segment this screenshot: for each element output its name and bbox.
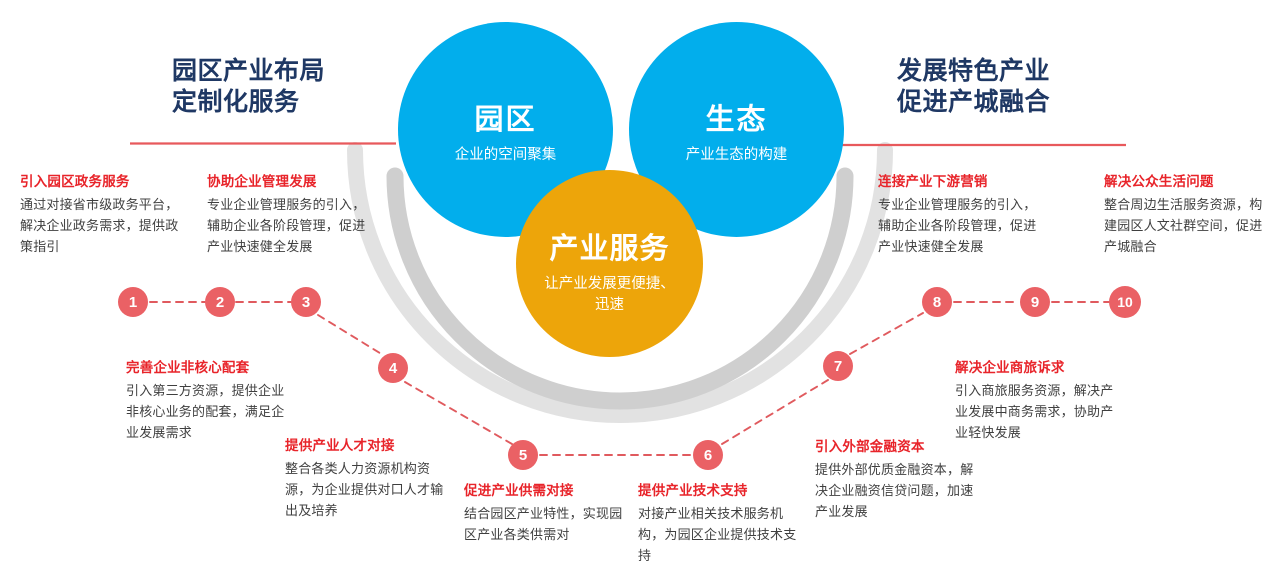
item-3-title: 完善企业非核心配套 (126, 358, 291, 377)
item-7-title: 引入外部金融资本 (815, 437, 977, 456)
item-block-3: 完善企业非核心配套 引入第三方资源，提供企业非核心业务的配套，满足企业发展需求 (126, 358, 291, 443)
item-2-body: 专业企业管理服务的引入，辅助企业各阶段管理，促进产业快速健全发展 (207, 194, 367, 257)
section-title-right: 发展特色产业 促进产城融合 (897, 56, 1050, 118)
item-block-6: 提供产业技术支持 对接产业相关技术服务机构，为园区企业提供技术支持 (638, 481, 800, 566)
item-9-title: 连接产业下游营销 (878, 172, 1038, 191)
item-2-title: 协助企业管理发展 (207, 172, 367, 191)
item-8-body: 引入商旅服务资源，解决产业发展中商务需求，协助产业轻快发展 (955, 380, 1115, 443)
circle-park-title: 园区 (474, 96, 536, 138)
item-block-5: 促进产业供需对接 结合园区产业特性，实现园区产业各类供需对 (464, 481, 624, 545)
item-block-10: 解决公众生活问题 整合周边生活服务资源，构建园区人文社群空间，促进产城融合 (1104, 172, 1266, 257)
item-5-body: 结合园区产业特性，实现园区产业各类供需对 (464, 503, 624, 545)
node-7[interactable]: 7 (823, 351, 853, 381)
circle-industry-service[interactable]: 产业服务 让产业发展更便捷、迅速 (516, 170, 703, 357)
item-8-title: 解决企业商旅诉求 (955, 358, 1115, 377)
node-10[interactable]: 10 (1109, 286, 1141, 318)
item-block-4: 提供产业人才对接 整合各类人力资源机构资源，为企业提供对口人才输出及培养 (285, 436, 447, 521)
circle-industry-service-subtitle: 让产业发展更便捷、迅速 (540, 274, 680, 316)
item-4-body: 整合各类人力资源机构资源，为企业提供对口人才输出及培养 (285, 458, 447, 521)
item-1-body: 通过对接省市级政务平台，解决企业政务需求，提供政策指引 (20, 194, 190, 257)
item-9-body: 专业企业管理服务的引入，辅助企业各阶段管理，促进产业快速健全发展 (878, 194, 1038, 257)
item-4-title: 提供产业人才对接 (285, 436, 447, 455)
node-2[interactable]: 2 (205, 287, 235, 317)
node-9[interactable]: 9 (1020, 287, 1050, 317)
circle-ecosystem-title: 生态 (705, 96, 767, 138)
section-title-left: 园区产业布局 定制化服务 (172, 56, 325, 118)
item-7-body: 提供外部优质金融资本，解决企业融资信贷问题，加速产业发展 (815, 459, 977, 522)
item-block-1: 引入园区政务服务 通过对接省市级政务平台，解决企业政务需求，提供政策指引 (20, 172, 190, 257)
item-block-7: 引入外部金融资本 提供外部优质金融资本，解决企业融资信贷问题，加速产业发展 (815, 437, 977, 522)
item-block-2: 协助企业管理发展 专业企业管理服务的引入，辅助企业各阶段管理，促进产业快速健全发… (207, 172, 367, 257)
node-5[interactable]: 5 (508, 440, 538, 470)
circle-park-subtitle: 企业的空间聚集 (455, 145, 557, 166)
item-6-title: 提供产业技术支持 (638, 481, 800, 500)
item-10-body: 整合周边生活服务资源，构建园区人文社群空间，促进产城融合 (1104, 194, 1266, 257)
item-5-title: 促进产业供需对接 (464, 481, 624, 500)
item-10-title: 解决公众生活问题 (1104, 172, 1266, 191)
node-4[interactable]: 4 (378, 353, 408, 383)
infographic-canvas: 园区产业布局 定制化服务 发展特色产业 促进产城融合 园区 企业的空间聚集 生态… (0, 0, 1273, 576)
circle-industry-service-title: 产业服务 (549, 225, 669, 267)
node-1[interactable]: 1 (118, 287, 148, 317)
item-block-8: 解决企业商旅诉求 引入商旅服务资源，解决产业发展中商务需求，协助产业轻快发展 (955, 358, 1115, 443)
node-3[interactable]: 3 (291, 287, 321, 317)
node-8[interactable]: 8 (922, 287, 952, 317)
item-3-body: 引入第三方资源，提供企业非核心业务的配套，满足企业发展需求 (126, 380, 291, 443)
item-1-title: 引入园区政务服务 (20, 172, 190, 191)
item-block-9: 连接产业下游营销 专业企业管理服务的引入，辅助企业各阶段管理，促进产业快速健全发… (878, 172, 1038, 257)
node-6[interactable]: 6 (693, 440, 723, 470)
item-6-body: 对接产业相关技术服务机构，为园区企业提供技术支持 (638, 503, 800, 566)
circle-ecosystem-subtitle: 产业生态的构建 (686, 145, 788, 166)
